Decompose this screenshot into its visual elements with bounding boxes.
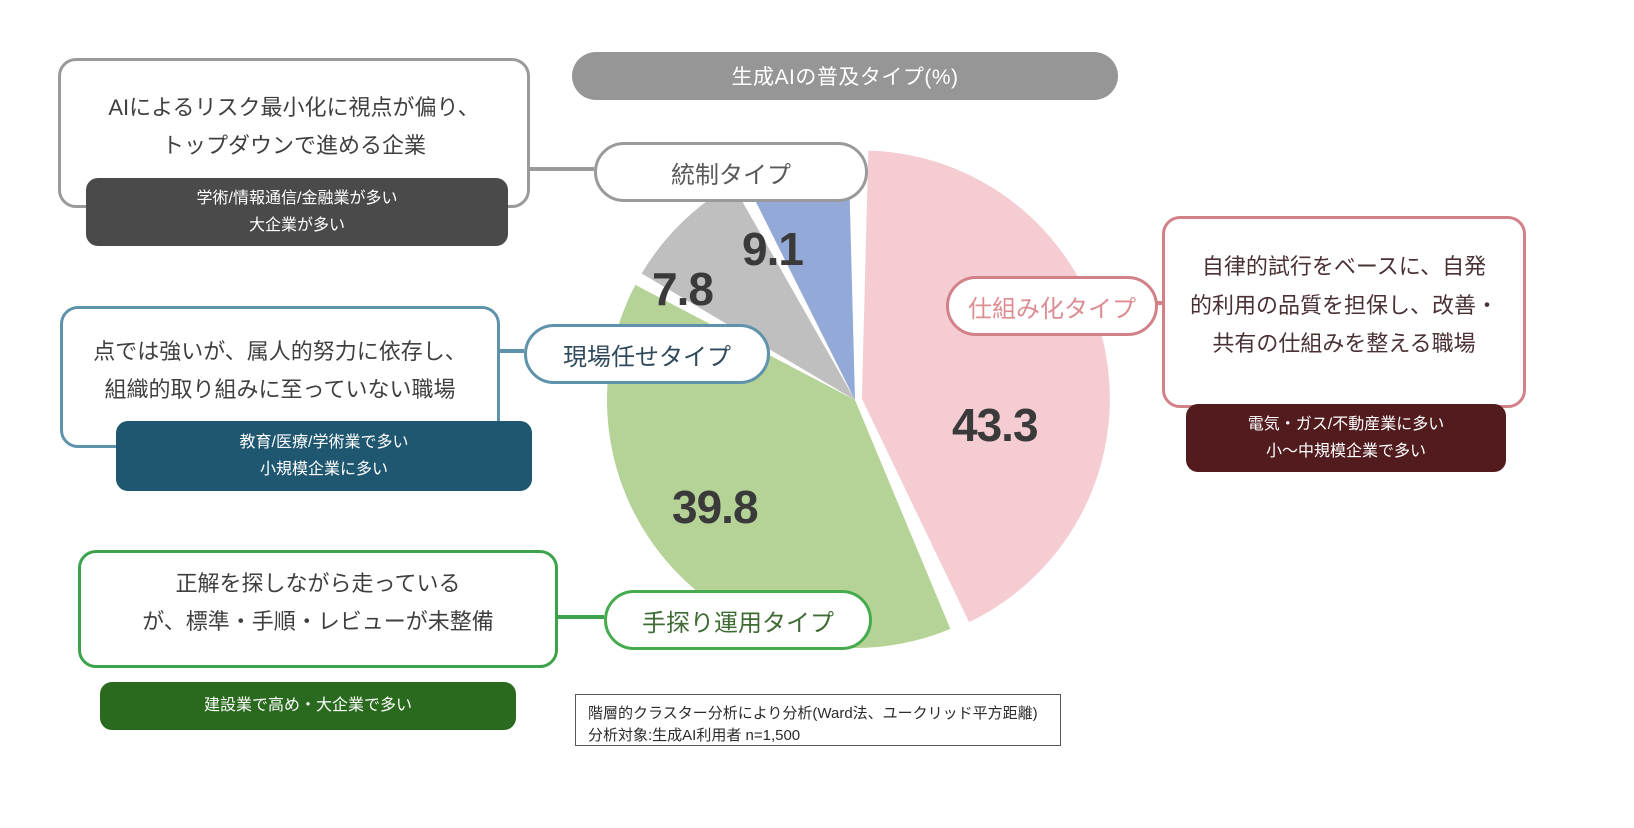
callout-tesaguri-body: 正解を探しながら走っている が、標準・手順・レビューが未整備 bbox=[78, 550, 558, 668]
pill-genba[interactable]: 現場任せタイプ bbox=[524, 324, 770, 384]
footnote-box: 階層的クラスター分析により分析(Ward法、ユークリッド平方距離) 分析対象:生… bbox=[575, 694, 1061, 746]
callout-shikumi-badge-line2: 小～中規模企業で多い bbox=[1266, 438, 1426, 465]
callout-genba-badge-line1: 教育/医療/学術業で多い bbox=[240, 429, 409, 456]
callout-shikumi-line3: 共有の仕組みを整える職場 bbox=[1212, 325, 1475, 364]
pill-genba-label: 現場任せタイプ bbox=[563, 337, 731, 372]
callout-tesaguri-badge: 建設業で高め・大企業で多い bbox=[100, 682, 516, 730]
pill-shikumi-label: 仕組み化タイプ bbox=[968, 289, 1136, 324]
callout-tosei-line1: AIによるリスク最小化に視点が偏り、 bbox=[108, 89, 479, 128]
callout-tosei: AIによるリスク最小化に視点が偏り、 トップダウンで進める企業 学術/情報通信/… bbox=[58, 58, 530, 208]
callout-tosei-badge: 学術/情報通信/金融業が多い 大企業が多い bbox=[86, 178, 508, 246]
callout-genba-badge-line2: 小規模企業に多い bbox=[260, 456, 388, 483]
callout-genba-line1: 点では強いが、属人的努力に依存し、 bbox=[93, 333, 467, 372]
callout-tosei-badge-line1: 学術/情報通信/金融業が多い bbox=[197, 185, 398, 212]
callout-genba-line2: 組織的取り組みに至っていない職場 bbox=[105, 371, 456, 410]
pill-tosei-label: 統制タイプ bbox=[671, 155, 791, 190]
callout-shikumi-line2: 的利用の品質を担保し、改善・ bbox=[1190, 287, 1498, 326]
callout-shikumi: 自律的試行をベースに、自発 的利用の品質を担保し、改善・ 共有の仕組みを整える職… bbox=[1162, 216, 1526, 408]
callout-shikumi-badge-line1: 電気・ガス/不動産業に多い bbox=[1248, 411, 1444, 438]
pill-shikumi[interactable]: 仕組み化タイプ bbox=[946, 276, 1158, 336]
pill-tesaguri-label: 手探り運用タイプ bbox=[642, 603, 834, 638]
callout-tosei-badge-line2: 大企業が多い bbox=[249, 212, 345, 239]
callout-tesaguri-line2: が、標準・手順・レビューが未整備 bbox=[142, 603, 494, 642]
pill-tosei[interactable]: 統制タイプ bbox=[594, 142, 868, 202]
callout-shikumi-body: 自律的試行をベースに、自発 的利用の品質を担保し、改善・ 共有の仕組みを整える職… bbox=[1162, 216, 1526, 408]
callout-genba-badge: 教育/医療/学術業で多い 小規模企業に多い bbox=[116, 421, 532, 491]
callout-tesaguri: 正解を探しながら走っている が、標準・手順・レビューが未整備 建設業で高め・大企… bbox=[78, 550, 558, 668]
callout-shikumi-badge: 電気・ガス/不動産業に多い 小～中規模企業で多い bbox=[1186, 404, 1506, 472]
infographic-canvas: 生成AIの普及タイプ(%) 43.3 39.8 9.1 7.8 統制タイプ 現場… bbox=[0, 0, 1634, 828]
footnote-line1: 階層的クラスター分析により分析(Ward法、ユークリッド平方距離) bbox=[588, 703, 1048, 725]
callout-genba: 点では強いが、属人的努力に依存し、 組織的取り組みに至っていない職場 教育/医療… bbox=[60, 306, 500, 448]
footnote-line2: 分析対象:生成AI利用者 n=1,500 bbox=[588, 725, 1048, 747]
callout-tesaguri-badge-line1: 建設業で高め・大企業で多い bbox=[204, 692, 412, 719]
callout-tosei-line2: トップダウンで進める企業 bbox=[162, 127, 426, 166]
callout-tesaguri-line1: 正解を探しながら走っている bbox=[176, 565, 461, 604]
pill-tesaguri[interactable]: 手探り運用タイプ bbox=[604, 590, 872, 650]
callout-shikumi-line1: 自律的試行をベースに、自発 bbox=[1202, 248, 1486, 287]
